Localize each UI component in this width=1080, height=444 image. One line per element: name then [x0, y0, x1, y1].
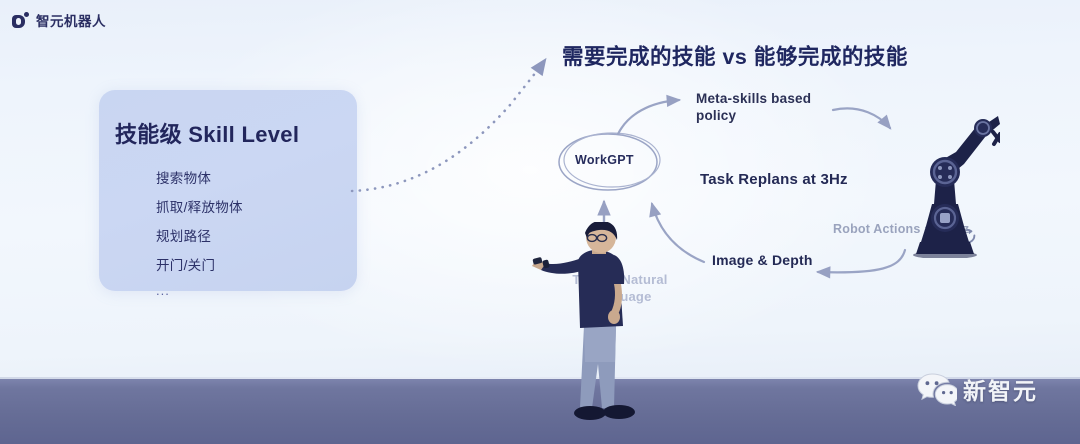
- dotted-connector-arrow: [352, 60, 545, 191]
- arrow-policy-to-robot: [833, 108, 890, 128]
- watermark-text: 新智元: [963, 372, 1038, 406]
- arrow-workgpt-to-policy: [618, 100, 679, 134]
- wechat-icon: [917, 372, 957, 406]
- label-task-replans: Task Replans at 3Hz: [700, 171, 848, 188]
- label-meta-skills-policy: Meta-skills based policy: [696, 90, 826, 124]
- robot-arm-icon: [890, 108, 1000, 258]
- label-image-depth: Image & Depth: [712, 251, 813, 269]
- label-workgpt: WorkGPT: [575, 153, 634, 167]
- speaker-person: [528, 222, 660, 440]
- watermark: 新智元: [917, 372, 1038, 406]
- presentation-screenshot: 智元机器人 技能级 Skill Level 搜索物体 抓取/释放物体 规划路径 …: [0, 0, 1080, 444]
